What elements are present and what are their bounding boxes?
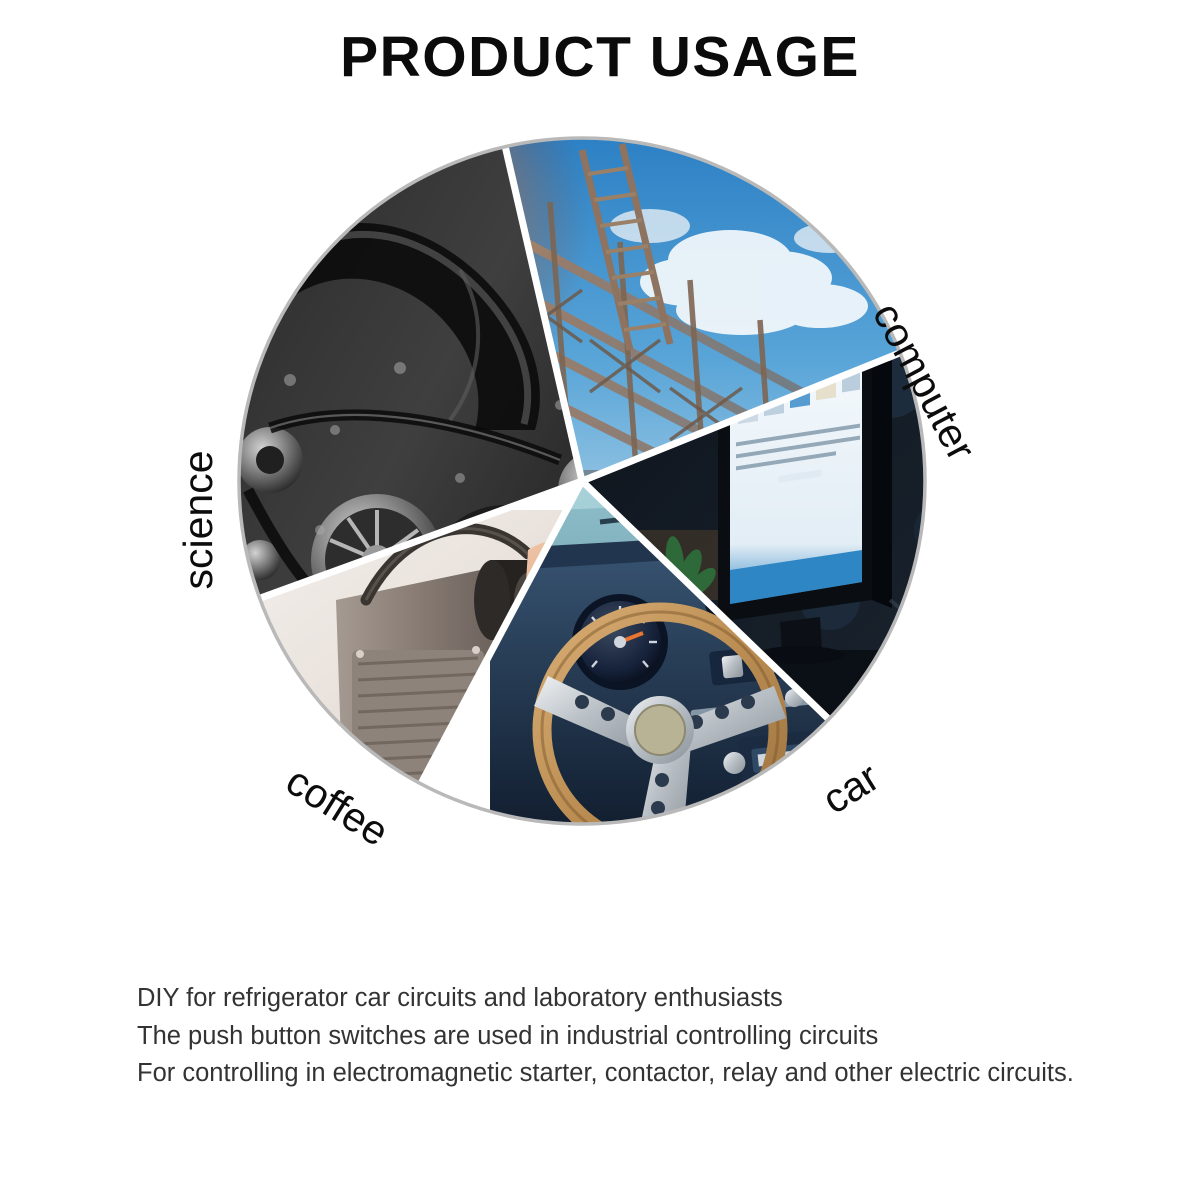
- label-coffee[interactable]: coffee: [278, 757, 396, 855]
- description-line-3: For controlling in electromagnetic start…: [137, 1055, 1167, 1093]
- description-block: DIY for refrigerator car circuits and la…: [137, 980, 1167, 1093]
- description-line-1: DIY for refrigerator car circuits and la…: [137, 980, 1167, 1018]
- description-line-2: The push button switches are used in ind…: [137, 1018, 1167, 1056]
- label-science[interactable]: science: [175, 450, 221, 589]
- label-car[interactable]: car: [814, 754, 887, 823]
- usage-wheel: industry computer car coffee science: [130, 130, 1070, 970]
- page-title: PRODUCT USAGE: [0, 28, 1200, 88]
